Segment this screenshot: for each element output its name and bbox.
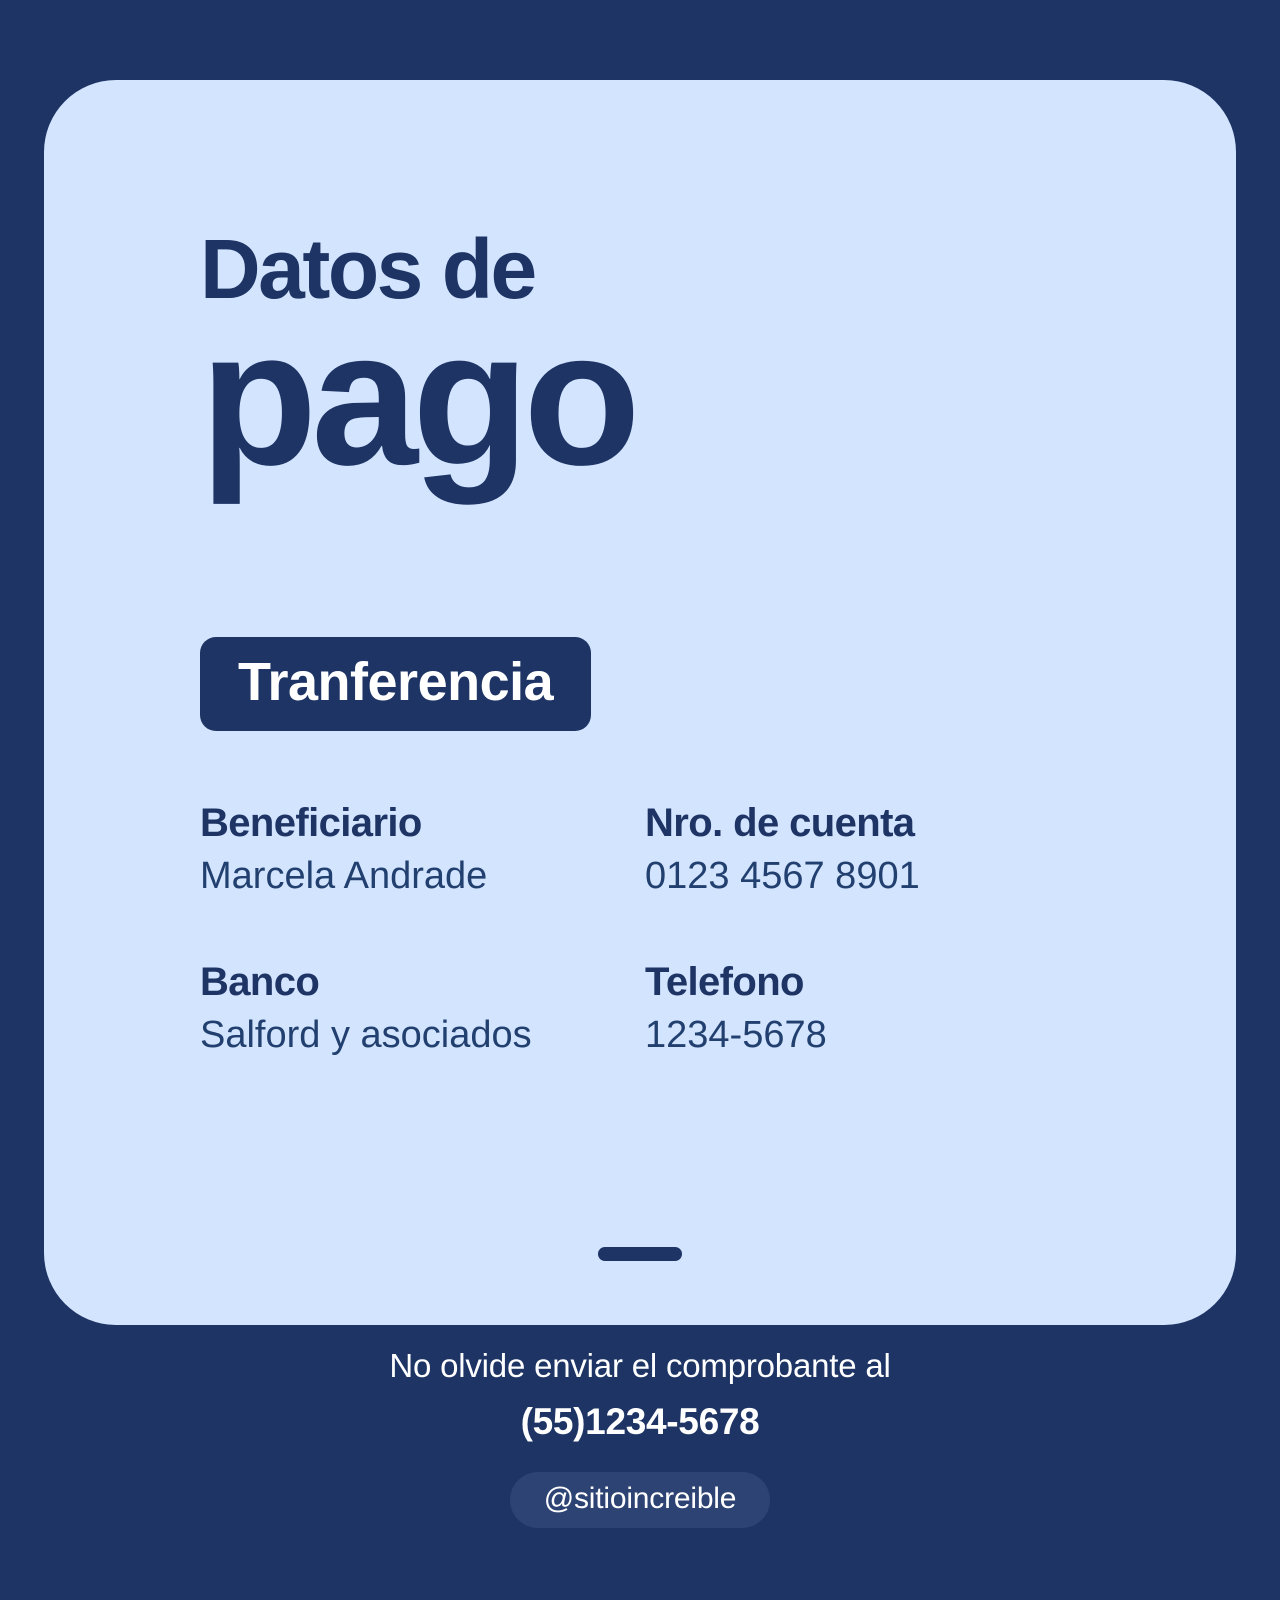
footer-phone-number: 1234-5678 [585, 1401, 759, 1442]
page-title: Datos de pago [200, 228, 635, 483]
detail-field-nro-de-cuenta: Nro. de cuenta 0123 4567 8901 [645, 800, 1100, 901]
detail-field-telefono: Telefono 1234-5678 [645, 959, 1100, 1060]
detail-label: Beneficiario [200, 800, 645, 846]
detail-field-beneficiario: Beneficiario Marcela Andrade [200, 800, 645, 901]
detail-value: Salford y asociados [200, 1011, 645, 1060]
footer-phone: (55)1234-5678 [0, 1398, 1280, 1446]
card-content: Datos de pago Tranferencia Beneficiario … [200, 80, 1196, 1325]
detail-value: Marcela Andrade [200, 852, 645, 901]
detail-label: Banco [200, 959, 645, 1005]
payment-card: Datos de pago Tranferencia Beneficiario … [44, 80, 1236, 1325]
social-handle-badge[interactable]: @sitioincreible [510, 1472, 771, 1528]
card-handle-bar-icon [598, 1247, 682, 1261]
payment-details-poster: Datos de pago Tranferencia Beneficiario … [0, 0, 1280, 1600]
payment-method-badge[interactable]: Tranferencia [200, 637, 591, 731]
title-line-2: pago [200, 314, 635, 483]
detail-value: 1234-5678 [645, 1011, 1100, 1060]
detail-value: 0123 4567 8901 [645, 852, 1100, 901]
footer-phone-area-code: (55) [521, 1401, 586, 1442]
footer: No olvide enviar el comprobante al (55)1… [0, 1345, 1280, 1528]
detail-field-banco: Banco Salford y asociados [200, 959, 645, 1060]
footer-note: No olvide enviar el comprobante al [0, 1345, 1280, 1386]
detail-label: Telefono [645, 959, 1100, 1005]
payment-details-grid: Beneficiario Marcela Andrade Nro. de cue… [200, 800, 1100, 1061]
detail-label: Nro. de cuenta [645, 800, 1100, 846]
